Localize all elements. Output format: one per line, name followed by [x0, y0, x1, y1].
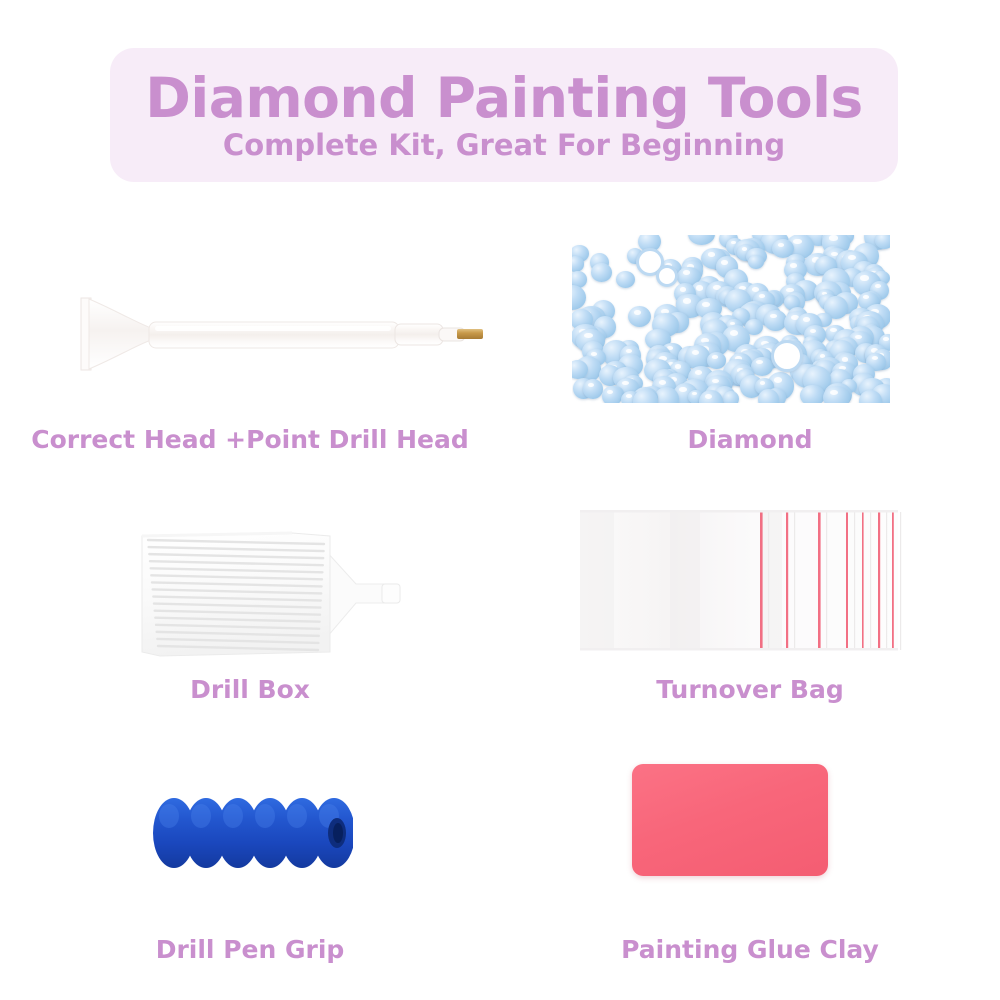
product-cell-drill-pen: Correct Head +Point Drill Head — [0, 210, 500, 480]
product-cell-turnover-bag: Turnover Bag — [500, 482, 1000, 742]
bag-seal-stripe — [760, 512, 763, 650]
drill-tray-svg — [120, 500, 420, 680]
diamond-drill — [748, 255, 764, 269]
product-label-turnover-bag: Turnover Bag — [656, 677, 844, 702]
diamond-drill — [572, 285, 586, 310]
diamond-drill — [628, 306, 651, 327]
drill-pen-svg — [55, 270, 485, 380]
diamond-drill-flat — [771, 340, 803, 372]
page-subtitle: Complete Kit, Great For Beginning — [223, 130, 785, 160]
header-banner: Diamond Painting Tools Complete Kit, Gre… — [110, 48, 898, 182]
diamond-drill — [800, 385, 824, 403]
bag-fold-line — [768, 512, 769, 650]
diamond-drill — [823, 386, 849, 403]
bag-fold-line — [886, 512, 887, 650]
bag-fold-line — [870, 512, 871, 650]
product-cell-pen-grip: Drill Pen Grip — [0, 744, 500, 1000]
product-label-diamond: Diamond — [687, 427, 812, 452]
diamond-drill — [688, 235, 715, 245]
grip-bead-highlight — [159, 804, 179, 828]
bag-fold-line — [826, 512, 827, 650]
diamond-drill — [723, 391, 739, 403]
bag-seal-stripe — [862, 512, 864, 650]
bag-seal-stripe — [892, 512, 894, 650]
diamond-drill — [758, 389, 779, 403]
bag-fold-line — [854, 512, 855, 650]
bag-seal-stripe — [818, 512, 821, 650]
diamond-drill — [583, 379, 603, 398]
product-cell-glue-clay: Painting Glue Clay — [500, 744, 1000, 1000]
drill-tray-illustration — [120, 500, 420, 680]
product-image-drill-pen — [0, 210, 500, 427]
product-image-glue-clay — [500, 744, 1000, 937]
product-image-turnover-bag — [500, 482, 1000, 677]
pen-grip-svg — [148, 788, 353, 878]
grip-bead-highlight — [287, 804, 307, 828]
product-image-pen-grip — [0, 744, 500, 937]
bag-fold-line — [794, 512, 795, 650]
diamond-drill — [764, 310, 787, 331]
turnover-bag-svg — [574, 496, 904, 668]
product-cell-drill-box: Drill Box — [0, 482, 500, 742]
infographic-page: Diamond Painting Tools Complete Kit, Gre… — [0, 0, 1000, 1000]
product-label-glue-clay: Painting Glue Clay — [621, 937, 879, 962]
grip-bead-highlight — [223, 804, 243, 828]
grip-bead-highlight — [191, 804, 211, 828]
bag-fold-line — [900, 512, 901, 650]
grip-bead-highlight — [255, 804, 275, 828]
product-label-drill-pen: Correct Head +Point Drill Head — [31, 427, 469, 452]
diamond-drill — [572, 256, 584, 271]
product-label-pen-grip: Drill Pen Grip — [156, 937, 345, 962]
product-grid: Correct Head +Point Drill Head Diamond — [0, 210, 1000, 1000]
product-label-drill-box: Drill Box — [190, 677, 310, 702]
diamond-drill — [602, 386, 622, 403]
product-image-drill-box — [0, 482, 500, 677]
page-title: Diamond Painting Tools — [145, 70, 863, 128]
bag-seal-stripe — [878, 512, 880, 650]
product-image-diamond — [500, 210, 1000, 427]
bag-seal-stripe — [846, 512, 848, 650]
bag-seal-stripe — [786, 512, 788, 650]
diamond-drill-flat — [656, 265, 678, 287]
diamond-drill — [591, 263, 612, 282]
pen-grip-illustration — [148, 788, 353, 878]
product-cell-diamond: Diamond — [500, 210, 1000, 480]
glue-clay-illustration — [632, 764, 828, 876]
drill-pen-illustration — [55, 270, 485, 380]
diamond-drill — [616, 271, 635, 288]
turnover-bag-illustration — [574, 496, 904, 668]
diamond-pile-illustration — [572, 235, 890, 403]
